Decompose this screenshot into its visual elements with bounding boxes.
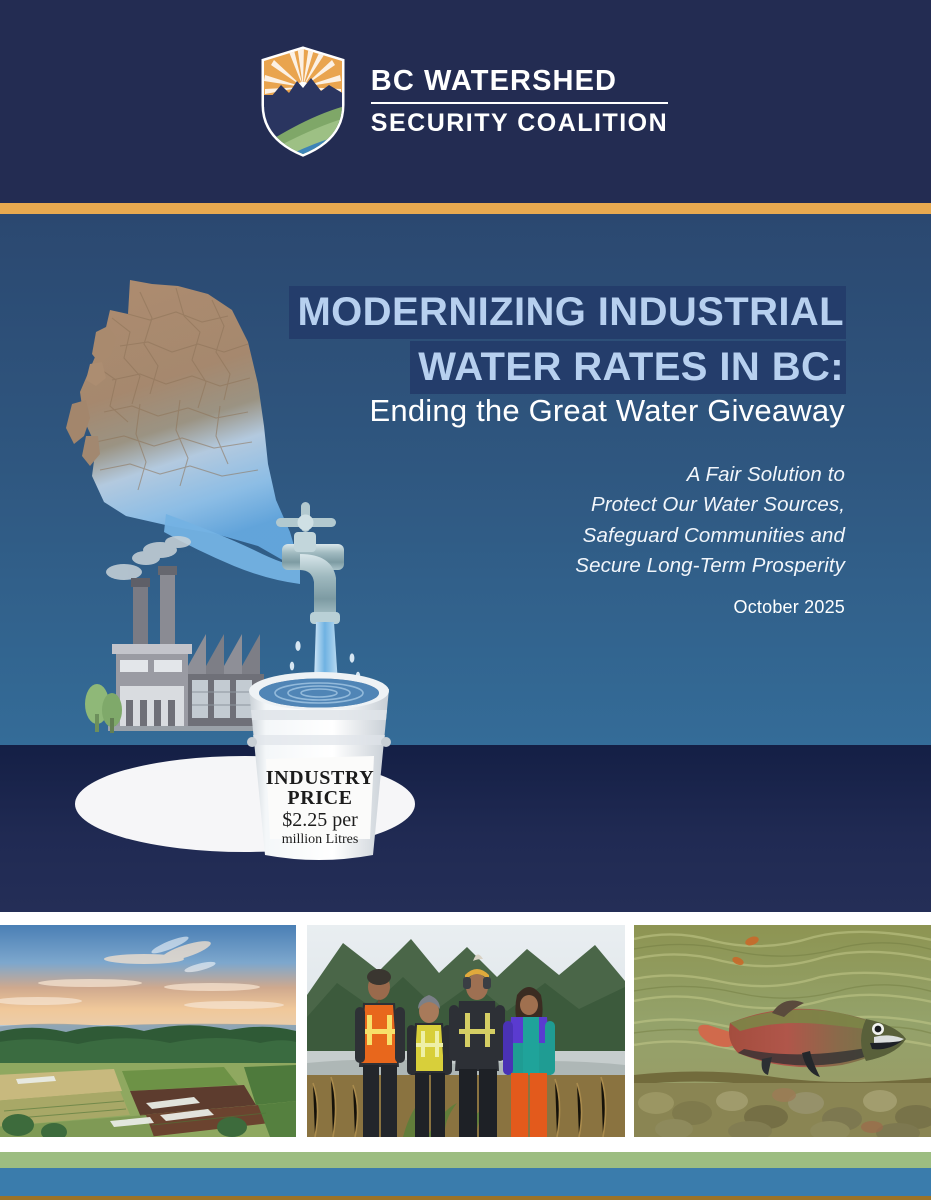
hero-text-block: MODERNIZING INDUSTRIAL WATER RATES IN BC… [0, 214, 931, 745]
cover-date: October 2025 [0, 597, 931, 618]
cover-title: MODERNIZING INDUSTRIAL WATER RATES IN BC… [0, 286, 931, 394]
title-line-1: MODERNIZING INDUSTRIAL [289, 286, 846, 339]
footer-band-gold [0, 1196, 931, 1200]
footer-band-green [0, 1152, 931, 1168]
tagline-line-2: Protect Our Water Sources, [0, 490, 845, 520]
tagline-line-3: Safeguard Communities and [0, 521, 845, 551]
wordmark-divider [371, 102, 668, 104]
photo-farmland-aerial [0, 925, 296, 1137]
header-accent-bar [0, 203, 931, 214]
photo-strip [0, 912, 931, 1152]
hero-lower-band [0, 745, 931, 912]
title-line-2: WATER RATES IN BC: [410, 341, 846, 394]
shield-watershed-logo-icon [257, 45, 349, 158]
report-cover-page: BC WATERSHED SECURITY COALITION [0, 0, 931, 1200]
photo-field-crew [307, 925, 625, 1137]
tagline-line-4: Secure Long-Term Prosperity [0, 551, 845, 581]
logo-lockup: BC WATERSHED SECURITY COALITION [257, 45, 668, 158]
cover-tagline: A Fair Solution to Protect Our Water Sou… [0, 460, 931, 581]
org-name-line2: SECURITY COALITION [371, 110, 668, 137]
photo-sockeye-salmon [634, 925, 931, 1137]
footer-band-blue [0, 1168, 931, 1196]
org-wordmark: BC WATERSHED SECURITY COALITION [371, 66, 668, 137]
page-header: BC WATERSHED SECURITY COALITION [0, 0, 931, 203]
org-name-line1: BC WATERSHED [371, 66, 668, 97]
cover-subtitle: Ending the Great Water Giveaway [0, 393, 931, 429]
tagline-line-1: A Fair Solution to [0, 460, 845, 490]
